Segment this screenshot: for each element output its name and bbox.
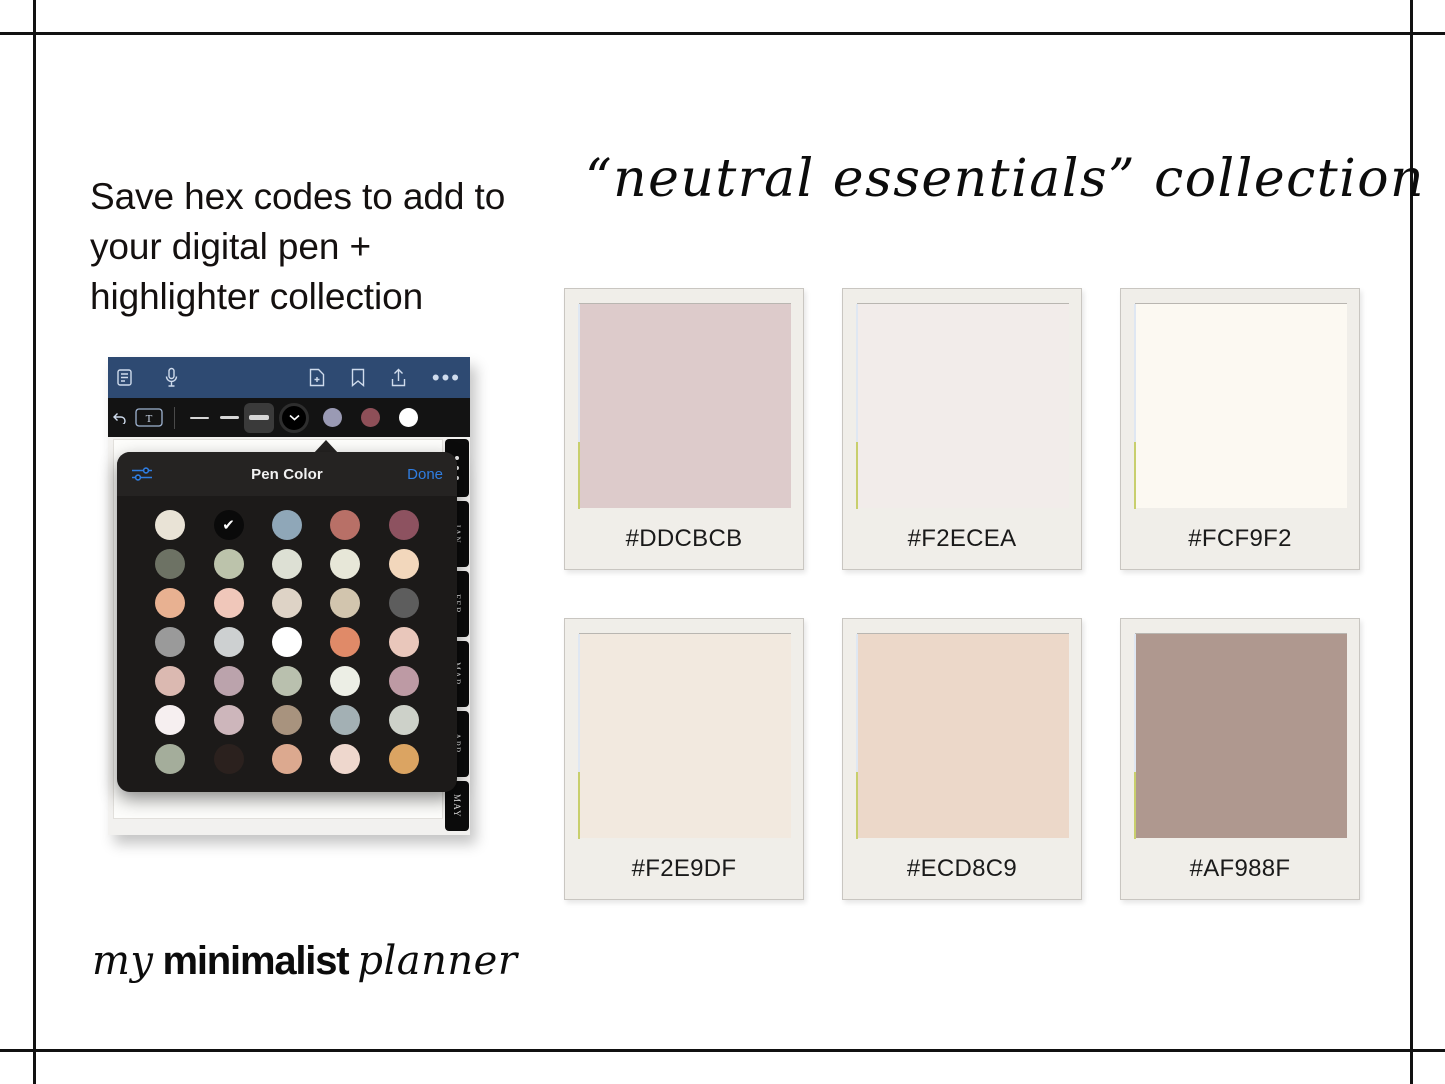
intro-paragraph: Save hex codes to add to your digital pe… <box>90 172 510 322</box>
color-swatch[interactable] <box>389 744 419 774</box>
swatch-card: #F2ECEA <box>842 288 1082 570</box>
stroke-thin-button[interactable] <box>184 403 214 433</box>
swatch-color-block <box>1135 633 1347 838</box>
color-swatch[interactable] <box>214 705 244 735</box>
sliders-icon[interactable] <box>131 467 153 481</box>
text-box-icon[interactable]: T <box>130 408 168 427</box>
swatch-hex-label: #AF988F <box>1135 838 1345 899</box>
swatch-edge-highlight <box>1134 442 1136 509</box>
bookmark-icon[interactable] <box>351 368 365 387</box>
note-icon[interactable] <box>110 357 138 398</box>
ipad-screenshot: ••• T <box>108 357 470 835</box>
swatch-card: #FCF9F2 <box>1120 288 1360 570</box>
add-page-icon[interactable] <box>309 368 325 387</box>
color-swatch-grid: ✔ <box>117 496 457 784</box>
swatch-hex-label: #F2ECEA <box>857 508 1067 569</box>
color-swatch[interactable] <box>155 666 185 696</box>
pen-toolbar: T <box>108 398 470 437</box>
color-swatch[interactable] <box>214 666 244 696</box>
swatch-card-grid: #DDCBCB#F2ECEA#FCF9F2#F2E9DF#ECD8C9#AF98… <box>564 288 1364 900</box>
collection-title: “neutral essentials” collection <box>585 140 1360 218</box>
swatch-card: #ECD8C9 <box>842 618 1082 900</box>
swatch-color-block <box>579 633 791 838</box>
color-swatch[interactable] <box>272 666 302 696</box>
color-swatch[interactable] <box>330 549 360 579</box>
swatch-card: #DDCBCB <box>564 288 804 570</box>
frame-line-left <box>33 0 36 1084</box>
stroke-thick-button[interactable] <box>244 403 274 433</box>
swatch-card: #F2E9DF <box>564 618 804 900</box>
color-swatch[interactable] <box>214 588 244 618</box>
check-icon: ✔ <box>222 518 235 533</box>
color-swatch[interactable] <box>272 549 302 579</box>
frame-line-bottom <box>0 1049 1445 1052</box>
color-swatch[interactable] <box>330 510 360 540</box>
color-swatch[interactable] <box>272 627 302 657</box>
swatch-hex-label: #ECD8C9 <box>857 838 1067 899</box>
share-icon[interactable] <box>391 368 406 387</box>
color-swatch[interactable]: ✔ <box>214 510 244 540</box>
current-pen-color-button[interactable] <box>279 403 309 433</box>
color-swatch[interactable] <box>389 549 419 579</box>
brand-word-minimalist: minimalist <box>163 939 349 984</box>
color-swatch[interactable] <box>214 549 244 579</box>
color-swatch[interactable] <box>272 510 302 540</box>
color-swatch[interactable] <box>389 666 419 696</box>
swatch-card: #AF988F <box>1120 618 1360 900</box>
swatch-edge-highlight <box>856 634 858 772</box>
app-topbar: ••• <box>108 357 470 398</box>
undo-icon[interactable] <box>108 411 130 424</box>
swatch-edge-highlight <box>578 634 580 772</box>
color-swatch[interactable] <box>330 744 360 774</box>
color-swatch[interactable] <box>330 705 360 735</box>
color-swatch[interactable] <box>272 705 302 735</box>
quick-color-3[interactable] <box>399 408 418 427</box>
quick-color-1[interactable] <box>323 408 342 427</box>
toolbar-divider <box>174 407 175 429</box>
color-swatch[interactable] <box>272 588 302 618</box>
stroke-medium-button[interactable] <box>214 403 244 433</box>
quick-color-2[interactable] <box>361 408 380 427</box>
swatch-edge-highlight <box>1134 772 1136 839</box>
color-swatch[interactable] <box>330 588 360 618</box>
brand-logo: my minimalist planner <box>92 938 517 984</box>
color-swatch[interactable] <box>155 705 185 735</box>
brand-word-planner: planner <box>357 938 517 984</box>
color-swatch[interactable] <box>389 705 419 735</box>
swatch-color-block <box>1135 303 1347 508</box>
swatch-edge-highlight <box>856 304 858 442</box>
color-swatch[interactable] <box>389 510 419 540</box>
microphone-icon[interactable] <box>138 357 204 398</box>
swatch-edge-highlight <box>1134 634 1136 772</box>
color-swatch[interactable] <box>214 744 244 774</box>
swatch-edge-highlight <box>856 442 858 509</box>
color-swatch[interactable] <box>155 744 185 774</box>
swatch-edge-highlight <box>578 442 580 509</box>
poster-page: Save hex codes to add to your digital pe… <box>0 0 1445 1084</box>
color-swatch[interactable] <box>155 627 185 657</box>
swatch-color-block <box>857 303 1069 508</box>
swatch-hex-label: #FCF9F2 <box>1135 508 1345 569</box>
swatch-edge-highlight <box>856 772 858 839</box>
popover-header: Pen Color Done <box>117 452 457 496</box>
frame-line-top <box>0 32 1445 35</box>
color-swatch[interactable] <box>330 666 360 696</box>
pen-color-popover: Pen Color Done ✔ <box>117 452 457 792</box>
color-swatch[interactable] <box>155 549 185 579</box>
svg-text:T: T <box>146 413 153 425</box>
swatch-hex-label: #DDCBCB <box>579 508 789 569</box>
swatch-edge-highlight <box>1134 304 1136 442</box>
done-button[interactable]: Done <box>407 466 443 483</box>
color-swatch[interactable] <box>330 627 360 657</box>
month-tab-label: MAY <box>452 794 462 818</box>
more-icon[interactable]: ••• <box>432 371 461 385</box>
color-swatch[interactable] <box>155 510 185 540</box>
color-swatch[interactable] <box>214 627 244 657</box>
color-swatch[interactable] <box>272 744 302 774</box>
color-swatch[interactable] <box>389 627 419 657</box>
color-swatch[interactable] <box>389 588 419 618</box>
swatch-color-block <box>579 303 791 508</box>
popover-title: Pen Color <box>117 466 457 483</box>
swatch-color-block <box>857 633 1069 838</box>
swatch-edge-highlight <box>578 304 580 442</box>
color-swatch[interactable] <box>155 588 185 618</box>
swatch-edge-highlight <box>578 772 580 839</box>
brand-word-my: my <box>92 938 154 984</box>
swatch-hex-label: #F2E9DF <box>579 838 789 899</box>
